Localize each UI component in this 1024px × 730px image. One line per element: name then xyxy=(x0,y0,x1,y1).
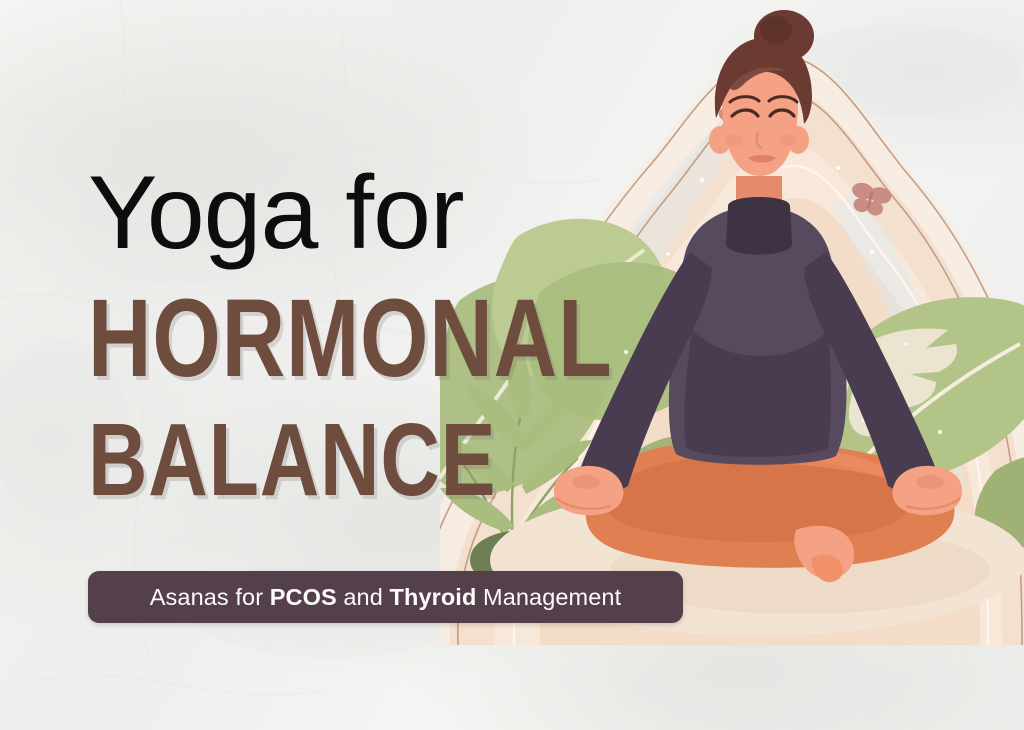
subtitle-bar: Asanas for PCOS and Thyroid Management xyxy=(88,571,683,623)
hand-right-mudra xyxy=(893,466,963,515)
headline-block: Yoga for HORMONAL BALANCE xyxy=(88,160,648,508)
headline-line-2: HORMONAL xyxy=(88,288,536,389)
headline-line-1: Yoga for xyxy=(88,160,648,266)
subtitle-text: Asanas for PCOS and Thyroid Management xyxy=(150,584,621,611)
subtitle-bold-thyroid: Thyroid xyxy=(390,584,477,610)
subtitle-middle: and xyxy=(337,584,390,610)
poster-canvas: Yoga for HORMONAL BALANCE Asanas for PCO… xyxy=(0,0,1024,730)
subtitle-prefix: Asanas for xyxy=(150,584,270,610)
headline-line-3: BALANCE xyxy=(88,413,536,508)
subtitle-suffix: Management xyxy=(476,584,621,610)
subtitle-bold-pcos: PCOS xyxy=(270,584,337,610)
